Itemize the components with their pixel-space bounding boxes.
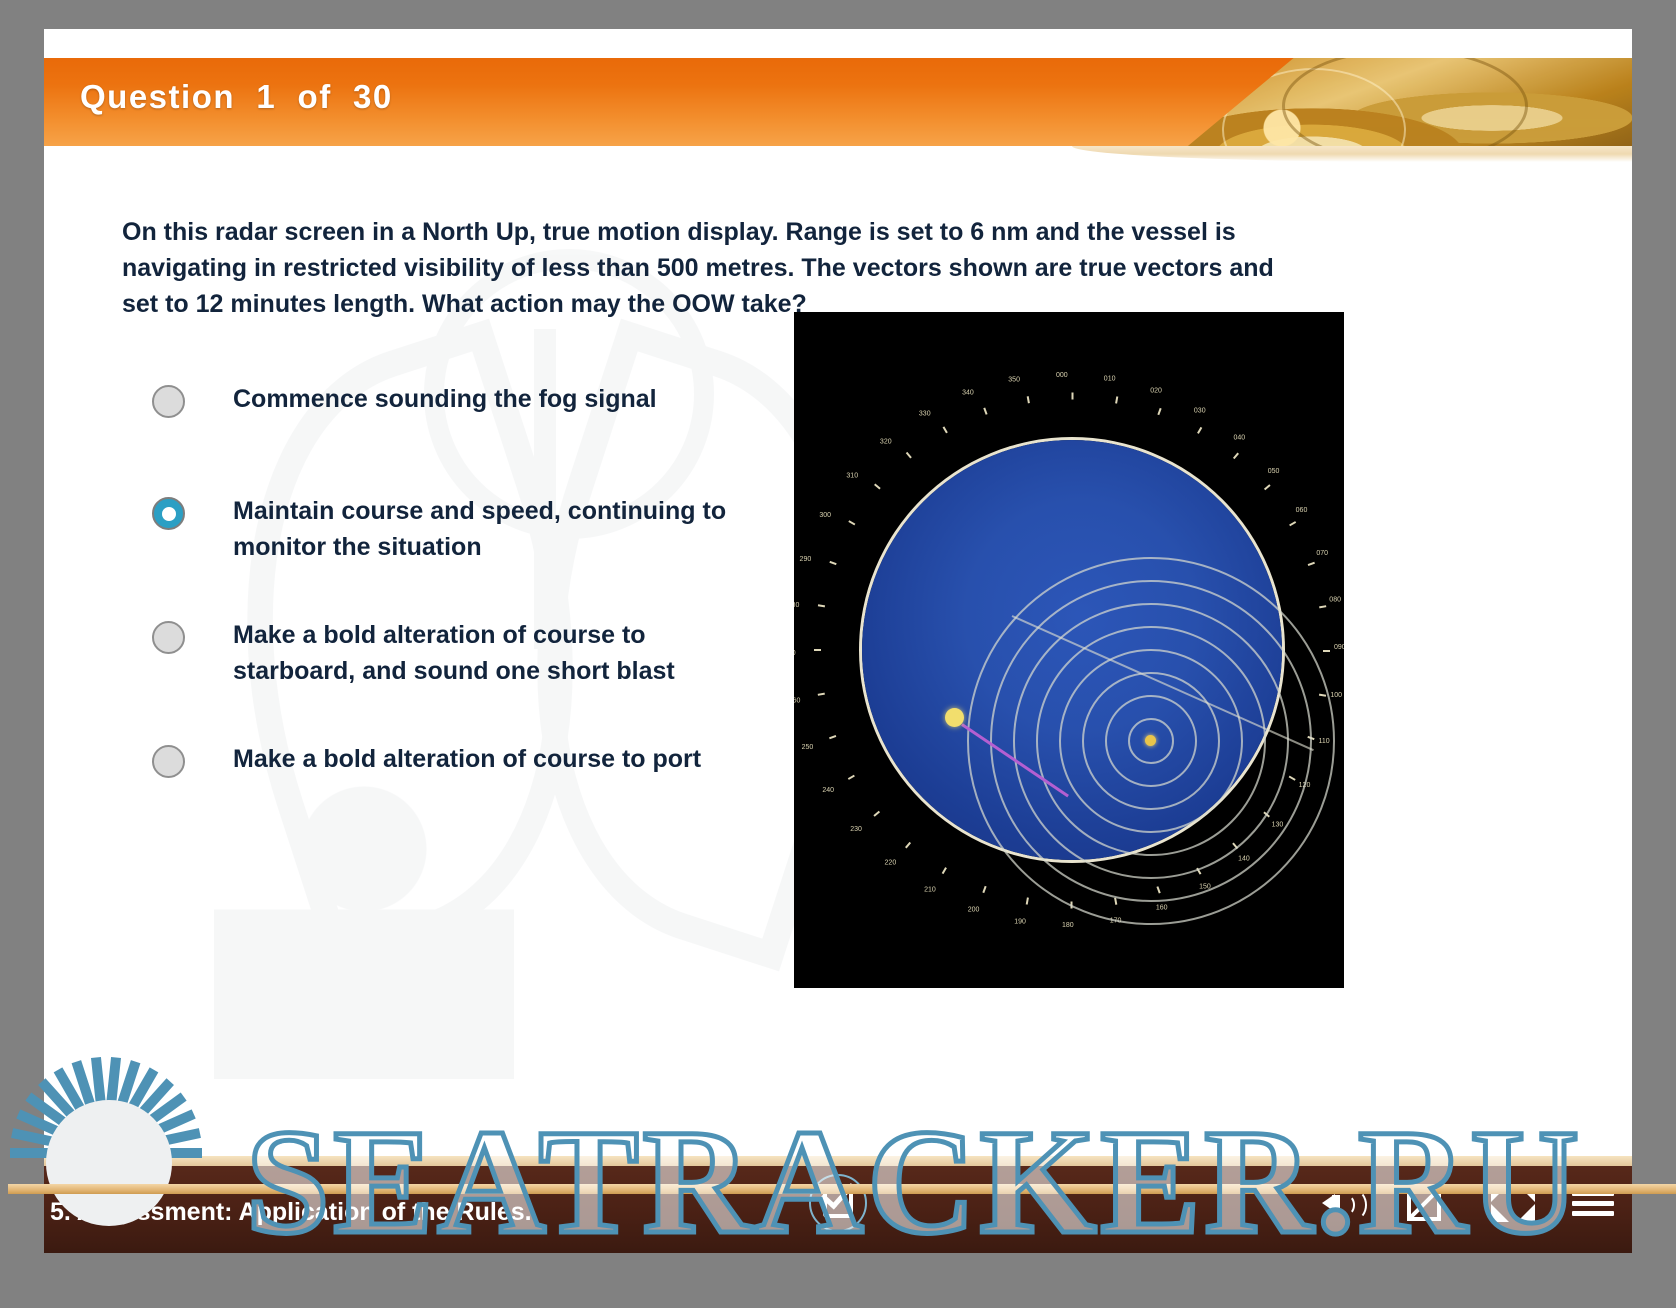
arrow-bottom-left [1491,1204,1509,1222]
bearing-tick-label: 300 [819,512,845,519]
bearing-tick-mark [829,735,836,739]
bearing-tick-mark [1289,521,1296,526]
player-toolbar: 3/34 5. Assessment: Application of the R… [44,1156,1632,1253]
bearing-tick-label: 200 [968,906,994,913]
answer-options: Commence sounding the fog signal Maintai… [152,381,772,853]
own-ship-marker [1145,735,1156,746]
radio-button-0[interactable] [152,385,185,418]
bearing-tick-label: 190 [1014,918,1040,925]
bearing-tick-label: 010 [1104,376,1130,383]
slide-frame: Question 1 of 30 On this radar screen in… [44,29,1632,1253]
radar-display-image: 0000100200300400500600700800901001101201… [794,312,1344,988]
notes-icon[interactable] [1404,1182,1450,1224]
menu-icon[interactable] [1570,1182,1616,1224]
bearing-tick-label: 180 [1062,922,1088,929]
bearing-tick-label: 100 [1330,692,1344,699]
menu-bar [1572,1201,1614,1206]
sound-wave-2 [1344,1190,1367,1220]
volume-icon[interactable] [1320,1182,1364,1224]
submit-answer-button[interactable] [809,1174,867,1232]
answer-option[interactable]: Commence sounding the fog signal [152,381,772,441]
bearing-tick-mark [874,811,881,817]
bearing-tick-mark [983,886,987,893]
page-counter: 3/34 [50,1172,87,1194]
bearing-tick-label: 260 [794,698,815,705]
bearing-tick-label: 340 [962,390,988,397]
menu-bar [1572,1211,1614,1216]
bearing-tick-label: 230 [850,826,876,833]
bearing-tick-mark [874,484,881,490]
bearing-tick-label: 280 [794,602,814,609]
bearing-tick-mark [1197,427,1202,434]
arrow-top-right [1517,1184,1535,1202]
answer-option-label: Make a bold alteration of course to port [233,741,772,777]
bearing-tick-label: 040 [1233,434,1259,441]
arrow-bottom-right [1517,1204,1535,1222]
header-swoosh [44,146,1632,180]
bearing-tick-label: 090 [1334,644,1344,651]
bearing-tick-mark [848,521,855,526]
bearing-tick-label: 020 [1150,388,1176,395]
bearing-tick-mark [1026,898,1029,905]
bearing-tick-mark [1026,396,1029,403]
question-header: Question 1 of 30 [44,58,1632,148]
bearing-tick-label: 210 [924,887,950,894]
bearing-tick-mark [1319,605,1326,608]
bearing-tick-mark [814,650,821,652]
bearing-tick-label: 310 [846,473,872,480]
bearing-tick-label: 350 [1008,377,1034,384]
bearing-tick-label: 060 [1296,507,1322,514]
radar-disc [862,440,1282,860]
bearing-tick-label: 270 [794,650,810,657]
radio-button-2[interactable] [152,621,185,654]
radio-button-3[interactable] [152,745,185,778]
bearing-tick-label: 070 [1316,550,1342,557]
answer-option-label: Maintain course and speed, continuing to… [233,493,772,565]
bearing-tick-mark [818,693,825,696]
bearing-tick-label: 250 [802,744,828,751]
bearing-tick-mark [1308,561,1315,565]
bearing-tick-label: 080 [1329,596,1344,603]
bearing-tick-label: 000 [1056,372,1082,379]
bearing-tick-mark [983,408,987,415]
header-swoosh-band [1072,146,1632,162]
toolbar-top-strip [44,1156,1632,1166]
target-echo [945,708,964,727]
bearing-tick-mark [1071,393,1073,400]
compass-photo [1162,58,1632,148]
expand-icon[interactable] [1490,1182,1536,1224]
answer-option[interactable]: Maintain course and speed, continuing to… [152,493,772,565]
bearing-tick-mark [1264,484,1271,490]
answer-option[interactable]: Make a bold alteration of course to star… [152,617,772,689]
answer-option-label: Make a bold alteration of course to star… [233,617,772,689]
bearing-tick-label: 290 [800,556,826,563]
answer-option-label: Commence sounding the fog signal [233,381,772,417]
bearing-tick-label: 330 [919,410,945,417]
radar-scope: 0000100200300400500600700800901001101201… [814,380,1324,920]
bearing-tick-label: 320 [880,438,906,445]
bearing-tick-label: 240 [822,787,848,794]
bearing-tick-mark [1233,452,1239,459]
bearing-tick-mark [1157,408,1161,415]
bearing-tick-label: 220 [885,860,911,867]
page-title: Question 1 of 30 [80,78,393,116]
bearing-tick-mark [1115,396,1118,403]
bearing-tick-label: 050 [1268,468,1294,475]
answer-option[interactable]: Make a bold alteration of course to port [152,741,772,801]
question-text: On this radar screen in a North Up, true… [122,214,1312,322]
menu-bar [1572,1191,1614,1196]
lesson-title: 5. Assessment: Application of the Rules. [50,1198,532,1227]
bearing-tick-mark [942,867,947,874]
bearing-tick-mark [848,775,855,780]
bearing-tick-label: 030 [1194,407,1220,414]
bearing-tick-mark [818,605,825,608]
bearing-tick-mark [905,452,911,459]
bearing-tick-mark [905,842,911,849]
arrow-top-left [1491,1184,1509,1202]
bearing-tick-mark [1323,650,1330,652]
radio-button-1[interactable] [152,497,185,530]
bearing-tick-mark [829,561,836,565]
bearing-tick-mark [942,427,947,434]
speaker-body [1332,1195,1340,1211]
